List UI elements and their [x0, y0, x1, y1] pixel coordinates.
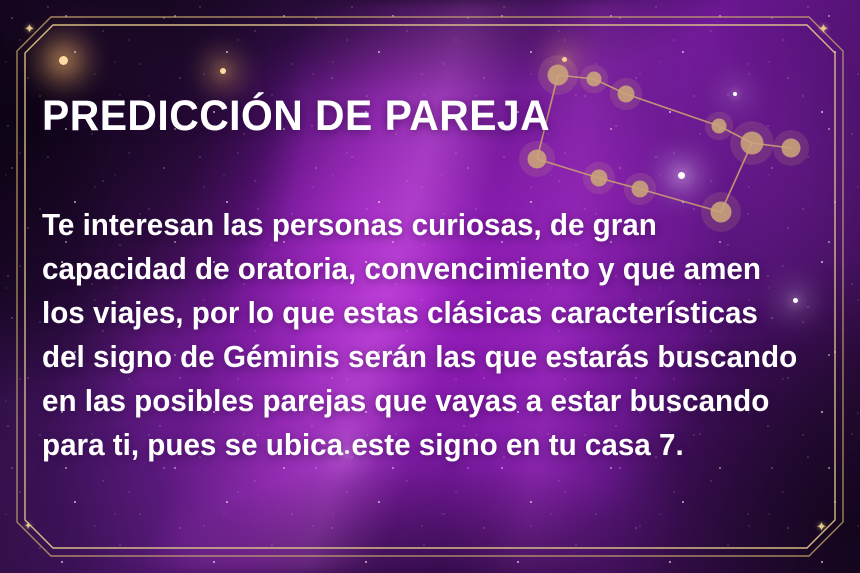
prediction-body-text: Te interesan las personas curiosas, de g… [42, 203, 806, 467]
sparkle-icon-top-right: ✦ [818, 22, 829, 35]
sparkle-icon-bottom-left: ✦ [24, 522, 32, 532]
sparkle-icon-bottom-right: ✦ [816, 520, 827, 533]
sparkle-icon-top-left: ✦ [24, 22, 35, 35]
page-title: PREDICCIÓN DE PAREJA [42, 92, 550, 141]
astrology-prediction-card: ✦ ✦ ✦ ✦ PREDICCIÓN DE PAREJA Te interesa… [0, 0, 860, 573]
